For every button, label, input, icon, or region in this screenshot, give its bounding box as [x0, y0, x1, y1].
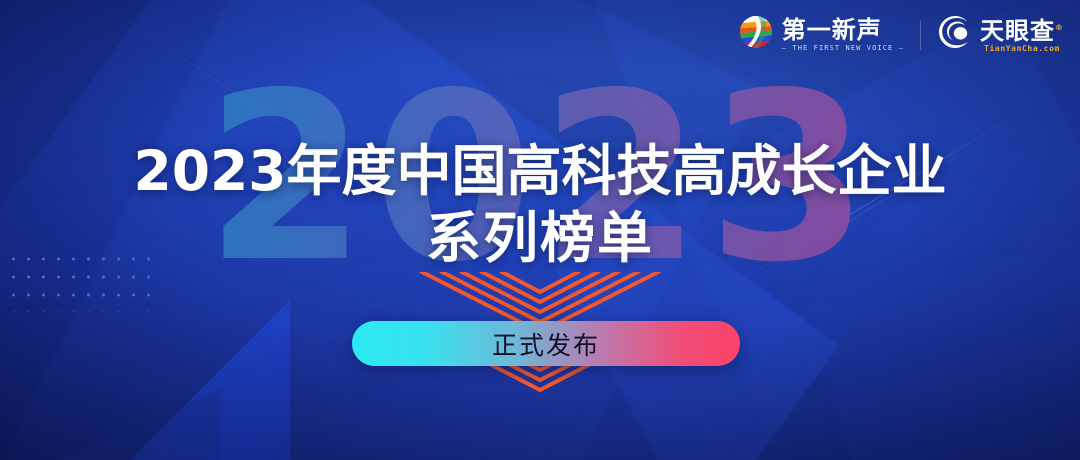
diyixinsheng-name: 第一新声	[782, 17, 904, 43]
title-block: 2023年度中国高科技高成长企业 系列榜单	[0, 138, 1080, 272]
title-line-2: 系列榜单	[0, 204, 1080, 272]
logo-divider	[920, 20, 921, 50]
logo-row: 第一新声 — THE FIRST NEW VOICE — 天眼查® TianYa…	[737, 13, 1064, 56]
tianyancha-name: 天眼查®	[980, 15, 1064, 44]
trademark-mark: ®	[1055, 23, 1064, 32]
diyixinsheng-globe-icon	[737, 13, 775, 56]
diyixinsheng-text: 第一新声 — THE FIRST NEW VOICE —	[782, 17, 904, 53]
release-status-pill[interactable]: 正式发布	[352, 321, 740, 366]
release-status-label: 正式发布	[492, 326, 600, 362]
promo-banner: 2023 2023年度中国高科技高成长企业 系列榜单 正式发布	[0, 0, 1080, 460]
tianyancha-eye-icon	[937, 14, 973, 55]
logo-tianyancha[interactable]: 天眼查® TianYanCha.com	[937, 14, 1064, 55]
logo-diyixinsheng[interactable]: 第一新声 — THE FIRST NEW VOICE —	[737, 13, 904, 56]
tianyancha-text: 天眼查® TianYanCha.com	[980, 15, 1064, 54]
diyixinsheng-tagline: — THE FIRST NEW VOICE —	[782, 43, 904, 53]
tianyancha-domain: TianYanCha.com	[980, 44, 1064, 54]
title-line-1: 2023年度中国高科技高成长企业	[0, 138, 1080, 204]
